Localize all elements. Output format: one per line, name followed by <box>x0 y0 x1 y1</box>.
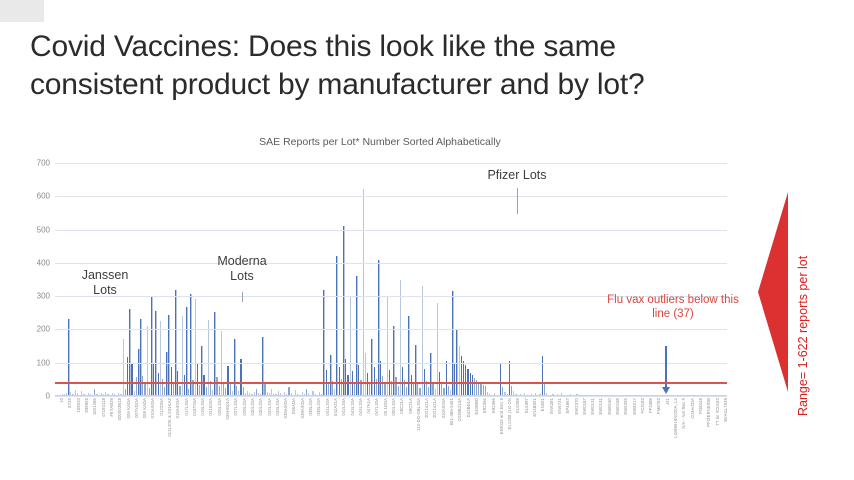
x-tick-label: C03A/2DA <box>690 398 695 419</box>
x-tick-label: 939905 <box>84 398 89 413</box>
x-tick-label: 042L20A <box>341 398 346 415</box>
chart-title: SAE Reports per Lot* Number Sorted Alpha… <box>0 136 760 148</box>
gridline-500: 500 <box>55 230 727 231</box>
x-tick-label: 013L20K & 031KAZ <box>167 398 172 437</box>
x-tick-label: 025L20A <box>217 398 222 415</box>
x-tick-label: 08C21A <box>399 398 404 414</box>
bar <box>446 361 447 396</box>
gridline-700: 700 <box>55 163 727 164</box>
x-tick-label: EP4867 <box>565 398 570 414</box>
x-tick-label: FM8782 <box>656 398 661 414</box>
x-tick-label: 039L20A <box>308 398 313 415</box>
bar <box>454 364 455 396</box>
x-tick-label: 035A/KDA <box>283 398 288 418</box>
y-tick-label-200: 200 <box>37 325 50 334</box>
x-tick-label: 8735 <box>67 398 72 408</box>
x-tick-label: 2021421A <box>424 398 429 418</box>
bar <box>345 359 346 396</box>
bar <box>439 372 440 396</box>
bar <box>197 364 198 396</box>
x-tick-label: 026HG01A <box>225 398 230 420</box>
x-tick-label: EW6205 <box>623 398 628 415</box>
x-tick-label: FC3182 <box>640 398 645 414</box>
x-tick-label: 030L20A <box>250 398 255 415</box>
bar <box>264 383 265 396</box>
x-tick-label: EW0198 <box>615 398 620 415</box>
x-tick-label: EL1208 (1st ON <box>507 398 512 429</box>
y-tick-label-600: 600 <box>37 192 50 201</box>
x-tick-label: #EYAB29 <box>109 398 114 417</box>
slide-root: Covid Vaccines: Does this look like the … <box>0 0 854 480</box>
bar <box>380 361 381 396</box>
x-tick-label: 008 KADA <box>142 398 147 418</box>
bar <box>463 361 464 396</box>
bar <box>184 375 185 396</box>
bar <box>216 377 217 396</box>
bar-highlight <box>123 339 124 396</box>
annotation-moderna-leader <box>242 292 243 302</box>
bar <box>395 377 396 396</box>
x-tick-label: 09C21A <box>408 398 413 414</box>
x-tick-label: 036ADA <box>291 398 296 414</box>
bar <box>223 382 224 396</box>
bar <box>358 365 359 396</box>
bar <box>411 375 412 396</box>
x-tick-label: 027L20A <box>233 398 238 415</box>
bar <box>465 365 466 396</box>
slide-title-line-2: consistent product by manufacturer and b… <box>30 66 820 104</box>
x-tick-label: 000002B18 <box>117 398 122 420</box>
bar <box>417 382 418 396</box>
x-tick-label: LOM9519N020A, Lo <box>673 398 678 438</box>
x-tick-label: 05 1EDA <box>383 398 388 415</box>
bar <box>162 379 163 396</box>
x-tick-label: EN6731 <box>557 398 562 414</box>
x-tick-label: 029L20A <box>242 398 247 415</box>
bar <box>131 364 132 396</box>
x-tick-label: 1821286 <box>92 398 97 415</box>
annotation-janssen-line1: Janssen <box>62 268 148 283</box>
annotation-pfizer: Pfizer Lots <box>452 168 582 183</box>
gridline-600: 600 <box>55 196 727 197</box>
x-tick-label: 006 KADA <box>126 398 131 418</box>
x-tick-label: EW8150 <box>607 398 612 415</box>
bar <box>240 359 241 396</box>
x-tick-label: C039B213A <box>457 398 462 421</box>
plot-region: 0100200300400500600700 <box>55 163 727 396</box>
x-tick-label: PFIZERNEIDB <box>706 398 711 427</box>
x-tick-label: 012230A <box>159 398 164 415</box>
bar <box>478 382 479 396</box>
x-tick-label: 109020 <box>76 398 81 413</box>
x-tick-label: 047L20A <box>374 398 379 415</box>
bar <box>158 373 159 396</box>
bar <box>227 366 228 396</box>
x-tick-label: 017L20A <box>184 398 189 415</box>
x-tick-label: 047A1A <box>366 398 371 414</box>
x-tick-label: 851-485-5481 <box>449 398 454 425</box>
x-tick-label: 2021421A <box>432 398 437 418</box>
x-tick-label: 039A/KDA <box>300 398 305 418</box>
x-tick-label: EW0131 <box>598 398 603 415</box>
x-tick-label: 050L20A <box>391 398 396 415</box>
x-tick-label: EN6281 <box>549 398 554 414</box>
x-tick-label: E92366 <box>482 398 487 413</box>
bar <box>173 383 174 396</box>
corner-artifact <box>0 0 44 22</box>
bar <box>177 371 178 396</box>
bar-highlight <box>69 319 70 396</box>
annotation-janssen-line2: Lots <box>62 283 148 298</box>
x-tick-label: D42BD1A <box>466 398 471 417</box>
x-tick-label: EW0187 <box>582 398 587 415</box>
x-tick-label: 010A/KDA <box>150 398 155 418</box>
bar-series <box>55 163 727 396</box>
x-tick-label: 032L20A <box>267 398 272 415</box>
bar <box>441 382 442 396</box>
x-tick-label: 044L20A <box>358 398 363 415</box>
slide-title: Covid Vaccines: Does this look like the … <box>30 28 820 105</box>
x-tick-label: EW8217 <box>632 398 637 415</box>
y-tick-label-500: 500 <box>37 225 50 234</box>
annotation-flu-outliers: Flu vax outliers below this line (37) <box>598 293 748 322</box>
chart-area: SAE Reports per Lot* Number Sorted Alpha… <box>0 128 854 480</box>
range-annotation: Range= 1-622 reports per lot <box>758 166 854 466</box>
x-tick-label: E92366 <box>491 398 496 413</box>
bar <box>472 375 473 396</box>
annotation-moderna-line2: Lots <box>196 269 288 284</box>
bar <box>354 383 355 396</box>
x-tick-label: 021520A <box>208 398 213 415</box>
bar <box>369 383 370 396</box>
annotation-pfizer-leader <box>517 188 518 214</box>
y-tick-label-300: 300 <box>37 292 50 301</box>
x-tick-label: FF3388 <box>648 398 653 413</box>
x-tick-label: 042A21A <box>333 398 338 416</box>
x-tick-label: 041L20A <box>325 398 330 415</box>
bar <box>142 376 143 396</box>
x-tick-label: W/AGL7539 <box>723 398 728 422</box>
bar <box>367 373 368 396</box>
x-tick-label: EW2370 <box>574 398 579 415</box>
bar <box>470 373 471 396</box>
annotation-janssen: Janssen Lots <box>62 268 148 298</box>
x-tick-label: EL6397 <box>524 398 529 413</box>
x-tick-label: 310A020A <box>441 398 446 418</box>
x-tick-label: 019L20A <box>200 398 205 415</box>
x-tick-label: 030L20A <box>258 398 263 415</box>
bar <box>352 371 353 396</box>
x-tick-label: 039L20A <box>316 398 321 415</box>
left-arrow-icon <box>758 192 788 392</box>
x-tick-label: 015A/KDA <box>175 398 180 418</box>
x-tick-label: E40BBD <box>474 398 479 415</box>
bar <box>347 375 348 396</box>
bar <box>153 364 154 396</box>
annotation-moderna: Moderna Lots <box>196 254 288 284</box>
x-tick-label: EW0131 <box>590 398 595 415</box>
bar <box>203 375 204 396</box>
x-tick-label: EN001 <box>540 398 545 411</box>
bar <box>341 379 342 396</box>
range-annotation-label: Range= 1-622 reports per lot <box>796 176 810 416</box>
bar-highlight <box>147 326 148 396</box>
gridline-200: 200 <box>55 329 727 330</box>
x-tick-label: N/A - Not Rec # <box>681 398 686 429</box>
x-tick-label: 018T20A <box>192 398 197 416</box>
x-tick-label: 007NDOA <box>134 398 139 418</box>
x-tick-label: PO8448 <box>698 398 703 414</box>
bar <box>136 377 137 396</box>
x-tick-label: 043L20A <box>350 398 355 415</box>
gridline-400: 400 <box>55 263 727 264</box>
bar <box>500 363 501 396</box>
y-tick-label-0: 0 <box>46 392 50 401</box>
x-tick-label: 47192118 <box>101 398 106 417</box>
gridline-100: 100 <box>55 363 727 364</box>
bar <box>382 376 383 396</box>
y-tick-label-700: 700 <box>37 159 50 168</box>
x-tick-label: 033L20A <box>275 398 280 415</box>
bar <box>509 361 510 396</box>
slide-title-line-1: Covid Vaccines: Does this look like the … <box>30 28 820 66</box>
x-tick-label: TT lot #C0182 <box>715 398 720 426</box>
x-tick-label: E93033 and E61 9 <box>499 398 504 434</box>
x-tick-label: EN4B001 <box>532 398 537 417</box>
x-axis-labels: 108735109020939905182128647192118#EYAB29… <box>55 398 727 478</box>
y-tick-label-100: 100 <box>37 358 50 367</box>
bar <box>376 379 377 396</box>
x-tick-label: 110-DO-GBL20A <box>416 398 421 431</box>
bar <box>474 378 475 396</box>
x-tick-label: J41 <box>665 398 670 405</box>
x-tick-label: EL5289 <box>515 398 520 413</box>
y-tick-label-400: 400 <box>37 258 50 267</box>
x-tick-label: 10 <box>59 398 64 403</box>
flu-threshold-line <box>55 382 727 383</box>
annotation-moderna-line1: Moderna <box>196 254 288 269</box>
